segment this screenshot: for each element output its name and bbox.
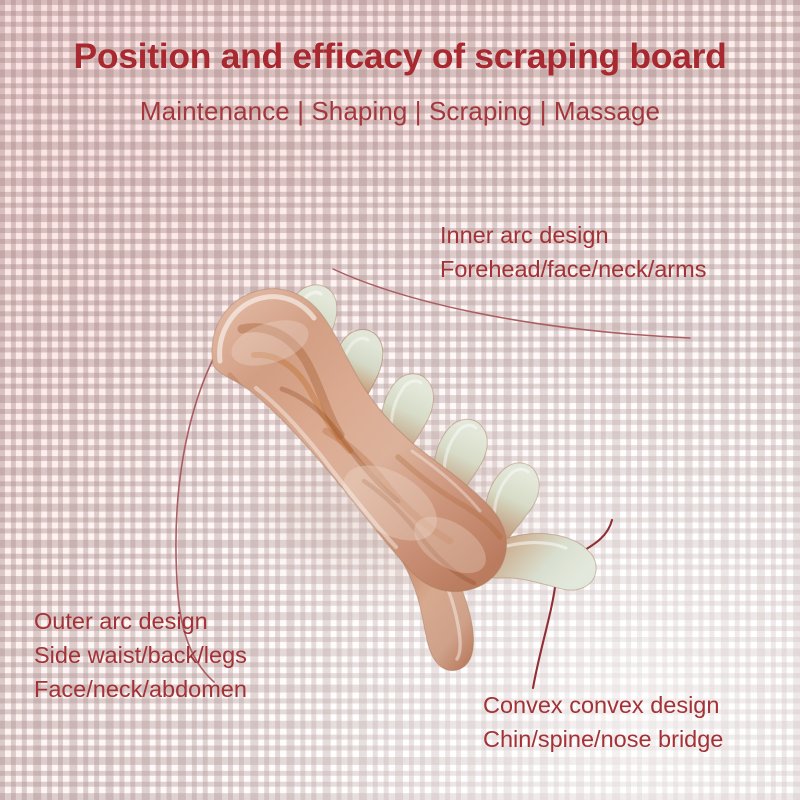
callout-convex-line-1: Convex convex design <box>483 688 723 722</box>
callout-outer-arc-line-1: Outer arc design <box>34 604 247 638</box>
callout-inner-arc-line-2: Forehead/face/neck/arms <box>440 252 706 286</box>
callout-inner-arc-line-1: Inner arc design <box>440 218 706 252</box>
page-title: Position and efficacy of scraping board <box>0 36 800 77</box>
callout-convex: Convex convex design Chin/spine/nose bri… <box>483 688 723 756</box>
callout-convex-line-2: Chin/spine/nose bridge <box>483 722 723 756</box>
callout-outer-arc-line-2: Side waist/back/legs <box>34 638 247 672</box>
callout-inner-arc: Inner arc design Forehead/face/neck/arms <box>440 218 706 286</box>
callout-outer-arc: Outer arc design Side waist/back/legs Fa… <box>34 604 247 706</box>
page-subtitle: Maintenance | Shaping | Scraping | Massa… <box>0 96 800 127</box>
poster-canvas: Position and efficacy of scraping board … <box>0 0 800 800</box>
callout-outer-arc-line-3: Face/neck/abdomen <box>34 672 247 706</box>
